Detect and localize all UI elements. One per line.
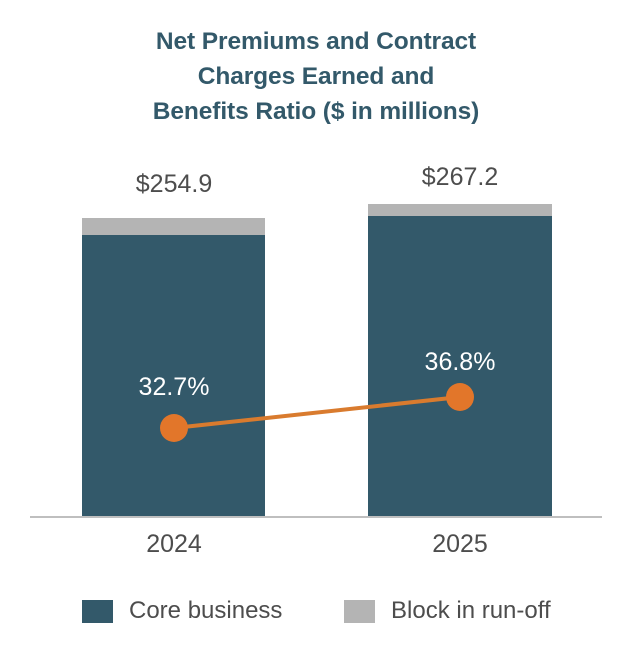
ratio-label-2024: 32.7%	[74, 373, 274, 402]
legend-swatch-icon-core-business	[82, 600, 113, 623]
total-label-2025: $267.2	[360, 163, 560, 192]
ratio-label-2025: 36.8%	[360, 348, 560, 377]
legend-item-core-business[interactable]: Core business	[82, 599, 282, 623]
legend-swatch-icon-block-in-run-off	[344, 600, 375, 623]
chart-legend: Core business Block in run-off	[0, 598, 632, 628]
bar-segment-2024-runoff[interactable]	[82, 218, 265, 235]
chart-container: Net Premiums and Contract Charges Earned…	[0, 0, 632, 672]
x-axis-label-2025: 2025	[360, 530, 560, 559]
legend-label-core-business: Core business	[129, 599, 282, 623]
legend-label-block-in-run-off: Block in run-off	[391, 599, 551, 623]
bar-segment-2025-runoff[interactable]	[368, 204, 552, 216]
x-axis-label-2024: 2024	[74, 530, 274, 559]
x-axis-line	[30, 516, 602, 518]
legend-item-block-in-run-off[interactable]: Block in run-off	[344, 599, 551, 623]
total-label-2024: $254.9	[74, 170, 274, 199]
plot-area: $254.9 $267.2 32.7% 36.8% 2024 2025	[0, 0, 632, 672]
